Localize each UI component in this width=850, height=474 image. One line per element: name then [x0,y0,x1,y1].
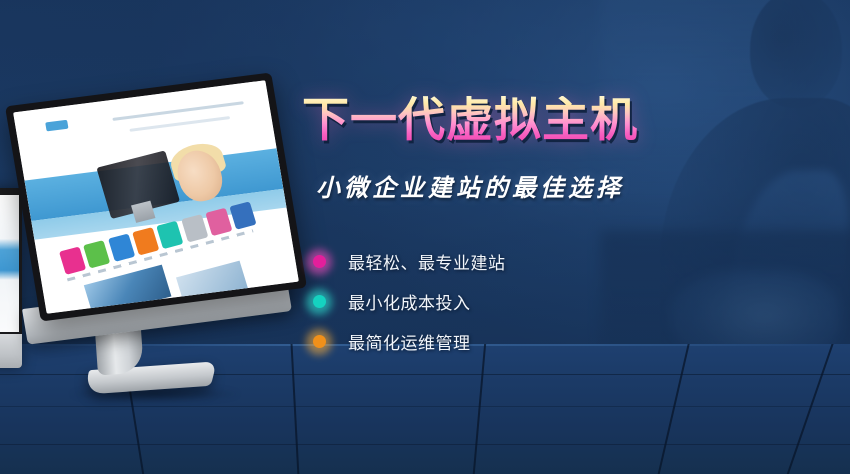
monitor-screen [13,80,299,314]
mockup-icon-7 [205,207,232,236]
mockup-icon-2 [83,240,110,269]
mockup-icon-4 [132,227,159,256]
mockup-icon-5 [156,220,183,249]
hero-banner: 下一代虚拟主机 小微企业建站的最佳选择 最轻松、最专业建站 最小化成本投入 [0,0,850,474]
feature-label: 最简化运维管理 [348,329,471,354]
mockup-nav-line [129,116,230,132]
dot-core [313,255,326,268]
dot-bullet-icon [306,329,332,355]
feature-item: 最小化成本投入 [306,291,722,313]
mockup-logo [46,120,69,132]
floor-line [0,444,850,445]
feature-label: 最小化成本投入 [348,289,471,314]
feature-list: 最轻松、最专业建站 最小化成本投入 最简化运维管理 [306,251,722,353]
banner-headline: 下一代虚拟主机 [302,96,722,146]
mockup-icon-6 [181,214,208,243]
desktop-computer-monitor [8,80,308,410]
dot-core [313,335,326,348]
mockup-icon-3 [107,233,134,262]
website-mockup [13,80,299,314]
feature-item: 最简化运维管理 [306,331,722,353]
monitor-bezel [5,72,307,321]
dot-core [313,295,326,308]
banner-text-block: 下一代虚拟主机 小微企业建站的最佳选择 最轻松、最专业建站 最小化成本投入 [302,96,722,371]
dot-bullet-icon [306,249,332,275]
floor-seam [780,344,837,474]
feature-label: 最轻松、最专业建站 [348,249,506,274]
feature-item: 最轻松、最专业建站 [306,251,722,273]
dot-bullet-icon [306,289,332,315]
mockup-icon-1 [59,246,86,275]
banner-subheadline: 小微企业建站的最佳选择 [316,168,722,203]
